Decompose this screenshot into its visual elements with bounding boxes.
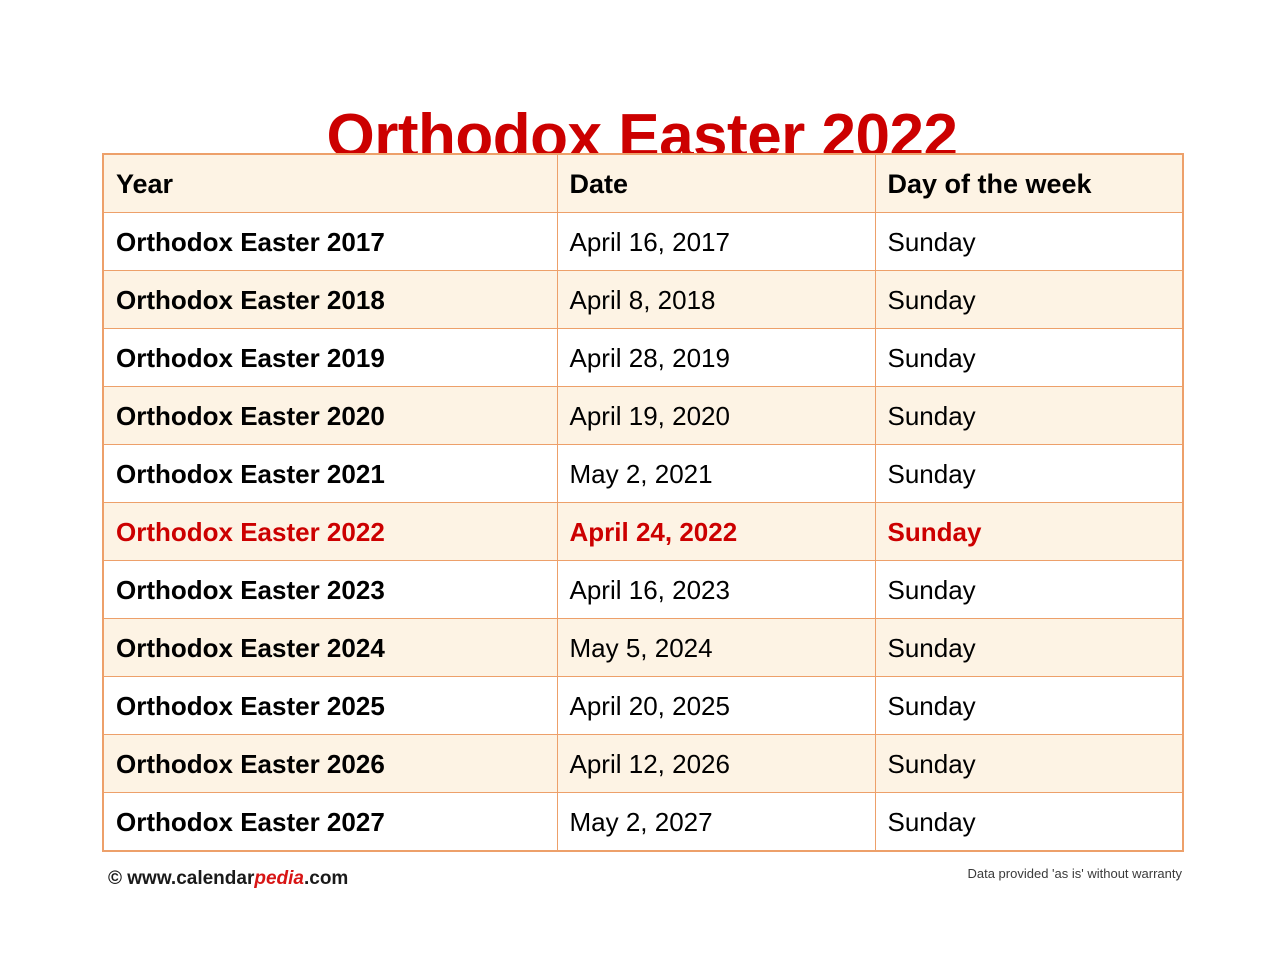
cell-day-of-week: Sunday [875,735,1183,793]
cell-date: April 16, 2023 [557,561,875,619]
cell-day-of-week: Sunday [875,445,1183,503]
table-header: Year Date Day of the week [103,154,1183,213]
table-row: Orthodox Easter 2017April 16, 2017Sunday [103,213,1183,271]
cell-day-of-week: Sunday [875,387,1183,445]
cell-year: Orthodox Easter 2027 [103,793,557,852]
cell-year: Orthodox Easter 2018 [103,271,557,329]
cell-year: Orthodox Easter 2023 [103,561,557,619]
cell-date: April 8, 2018 [557,271,875,329]
cell-day-of-week: Sunday [875,503,1183,561]
cell-date: May 5, 2024 [557,619,875,677]
cell-date: May 2, 2021 [557,445,875,503]
cell-year: Orthodox Easter 2022 [103,503,557,561]
table-header-row: Year Date Day of the week [103,154,1183,213]
cell-year: Orthodox Easter 2021 [103,445,557,503]
copyright-prefix: www.calendar [122,868,254,889]
table-row: Orthodox Easter 2018April 8, 2018Sunday [103,271,1183,329]
cell-date: April 20, 2025 [557,677,875,735]
cell-year: Orthodox Easter 2024 [103,619,557,677]
table-row: Orthodox Easter 2021May 2, 2021Sunday [103,445,1183,503]
data-disclaimer: Data provided 'as is' without warranty [967,866,1182,881]
cell-day-of-week: Sunday [875,677,1183,735]
cell-year: Orthodox Easter 2019 [103,329,557,387]
table-row: Orthodox Easter 2025April 20, 2025Sunday [103,677,1183,735]
cell-year: Orthodox Easter 2020 [103,387,557,445]
column-header-date: Date [557,154,875,213]
table-body: Orthodox Easter 2017April 16, 2017Sunday… [103,213,1183,852]
cell-date: April 19, 2020 [557,387,875,445]
easter-dates-table-container: Year Date Day of the week Orthodox Easte… [102,153,1182,852]
cell-year: Orthodox Easter 2026 [103,735,557,793]
cell-year: Orthodox Easter 2017 [103,213,557,271]
cell-date: May 2, 2027 [557,793,875,852]
page-footer: © www.calendarpedia.com Data provided 'a… [102,866,1182,896]
column-header-year: Year [103,154,557,213]
table-row: Orthodox Easter 2024May 5, 2024Sunday [103,619,1183,677]
table-row: Orthodox Easter 2026April 12, 2026Sunday [103,735,1183,793]
easter-dates-table: Year Date Day of the week Orthodox Easte… [102,153,1184,852]
table-row: Orthodox Easter 2022April 24, 2022Sunday [103,503,1183,561]
cell-day-of-week: Sunday [875,271,1183,329]
cell-date: April 12, 2026 [557,735,875,793]
copyright-brand-accent: pedia [254,868,304,889]
table-row: Orthodox Easter 2023April 16, 2023Sunday [103,561,1183,619]
table-row: Orthodox Easter 2020April 19, 2020Sunday [103,387,1183,445]
cell-day-of-week: Sunday [875,329,1183,387]
copyright-suffix: .com [304,868,348,889]
cell-date: April 28, 2019 [557,329,875,387]
cell-day-of-week: Sunday [875,213,1183,271]
cell-day-of-week: Sunday [875,561,1183,619]
table-row: Orthodox Easter 2019April 28, 2019Sunday [103,329,1183,387]
column-header-day-of-week: Day of the week [875,154,1183,213]
cell-date: April 16, 2017 [557,213,875,271]
copyright-symbol: © [108,868,122,889]
copyright-notice: © www.calendarpedia.com [108,868,348,890]
calendarpedia-page: Orthodox Easter 2022 Year Date Day of th… [0,0,1284,967]
cell-year: Orthodox Easter 2025 [103,677,557,735]
cell-date: April 24, 2022 [557,503,875,561]
cell-day-of-week: Sunday [875,619,1183,677]
table-row: Orthodox Easter 2027May 2, 2027Sunday [103,793,1183,852]
cell-day-of-week: Sunday [875,793,1183,852]
